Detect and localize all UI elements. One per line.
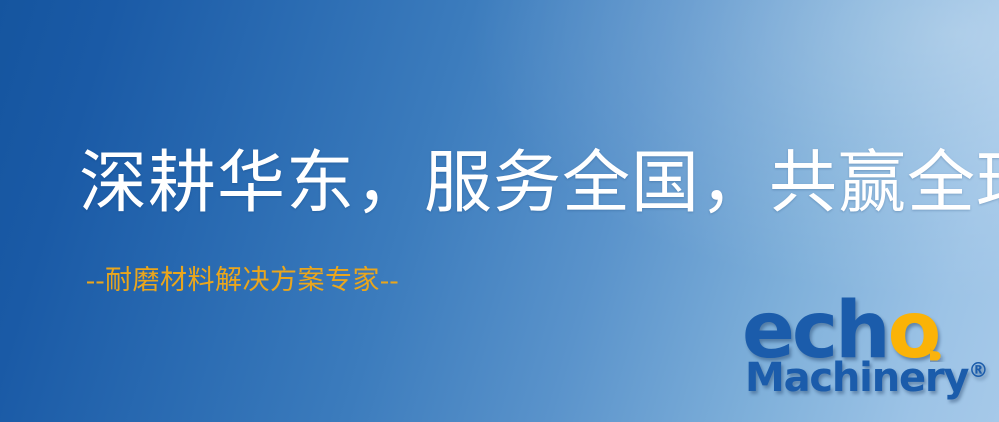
company-logo[interactable]: echo Machinery® (742, 292, 994, 418)
logo-subtext: Machinery® (745, 358, 988, 398)
promo-banner: 深耕华东，服务全国，共赢全球 --耐磨材料解决方案专家-- echo Machi… (0, 0, 999, 422)
registered-trademark-icon: ® (968, 358, 988, 382)
banner-headline: 深耕华东，服务全国，共赢全球 (79, 148, 999, 219)
wifi-signal-icon (930, 288, 999, 362)
logo-subtext-label: Machinery (745, 355, 968, 401)
banner-subtitle: --耐磨材料解决方案专家-- (86, 266, 399, 296)
